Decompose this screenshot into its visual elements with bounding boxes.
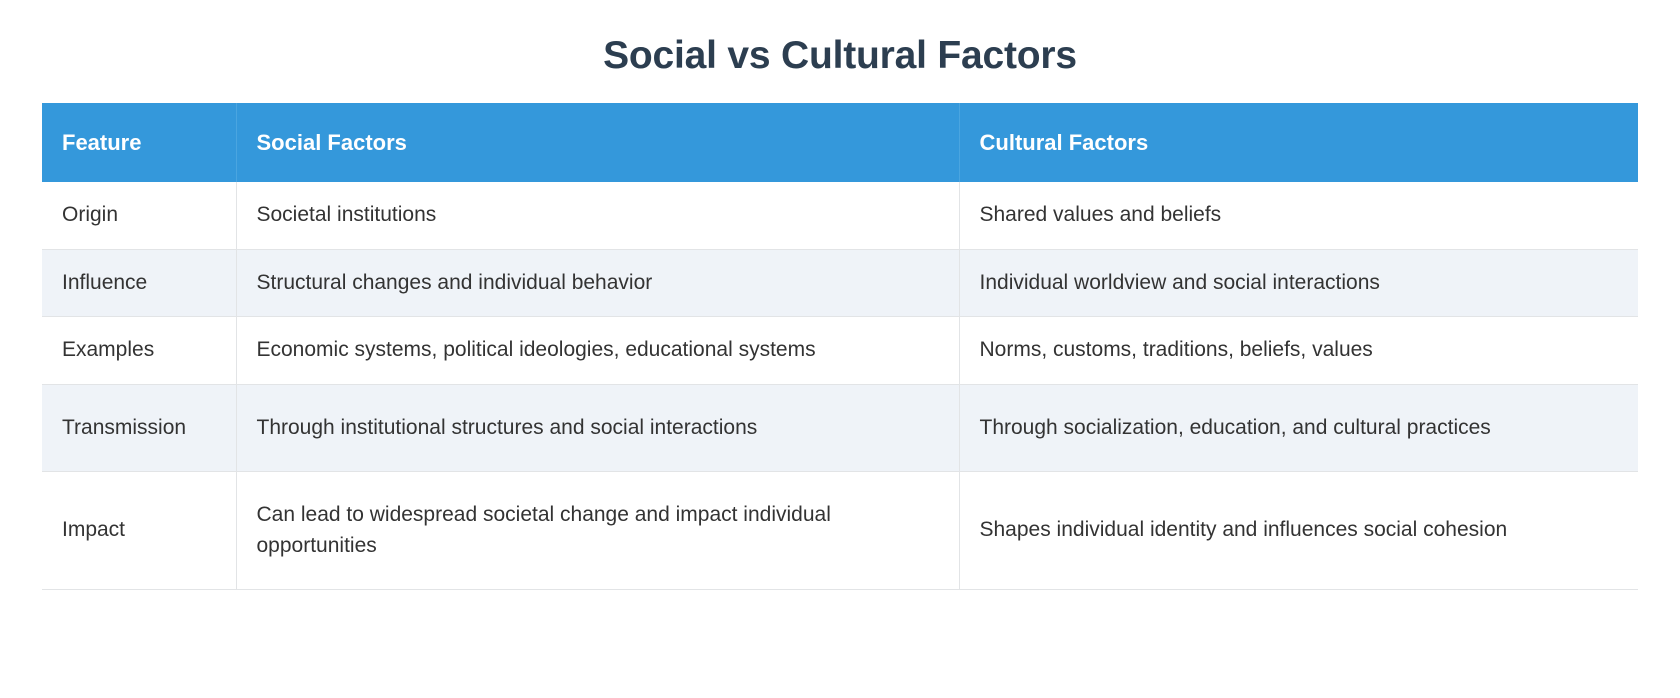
table-row: Examples Economic systems, political ide… bbox=[42, 317, 1638, 384]
column-header-cultural: Cultural Factors bbox=[959, 103, 1638, 183]
cell-cultural: Individual worldview and social interact… bbox=[959, 249, 1638, 316]
cell-social: Through institutional structures and soc… bbox=[236, 384, 959, 471]
comparison-table: Feature Social Factors Cultural Factors … bbox=[42, 103, 1638, 590]
comparison-table-container: Feature Social Factors Cultural Factors … bbox=[0, 103, 1680, 590]
page-root: Social vs Cultural Factors Feature Socia… bbox=[0, 0, 1680, 698]
cell-feature: Transmission bbox=[42, 384, 236, 471]
cell-social: Economic systems, political ideologies, … bbox=[236, 317, 959, 384]
table-header: Feature Social Factors Cultural Factors bbox=[42, 103, 1638, 183]
cell-feature: Examples bbox=[42, 317, 236, 384]
table-row: Origin Societal institutions Shared valu… bbox=[42, 182, 1638, 249]
table-row: Transmission Through institutional struc… bbox=[42, 384, 1638, 471]
cell-feature: Impact bbox=[42, 472, 236, 590]
cell-feature: Influence bbox=[42, 249, 236, 316]
table-row: Impact Can lead to widespread societal c… bbox=[42, 472, 1638, 590]
cell-social: Societal institutions bbox=[236, 182, 959, 249]
cell-feature: Origin bbox=[42, 182, 236, 249]
cell-social: Can lead to widespread societal change a… bbox=[236, 472, 959, 590]
cell-cultural: Shared values and beliefs bbox=[959, 182, 1638, 249]
column-header-feature: Feature bbox=[42, 103, 236, 183]
cell-social: Structural changes and individual behavi… bbox=[236, 249, 959, 316]
cell-cultural: Shapes individual identity and influence… bbox=[959, 472, 1638, 590]
page-title: Social vs Cultural Factors bbox=[0, 0, 1680, 81]
cell-cultural: Norms, customs, traditions, beliefs, val… bbox=[959, 317, 1638, 384]
table-body: Origin Societal institutions Shared valu… bbox=[42, 182, 1638, 589]
table-row: Influence Structural changes and individ… bbox=[42, 249, 1638, 316]
table-header-row: Feature Social Factors Cultural Factors bbox=[42, 103, 1638, 183]
cell-cultural: Through socialization, education, and cu… bbox=[959, 384, 1638, 471]
column-header-social: Social Factors bbox=[236, 103, 959, 183]
